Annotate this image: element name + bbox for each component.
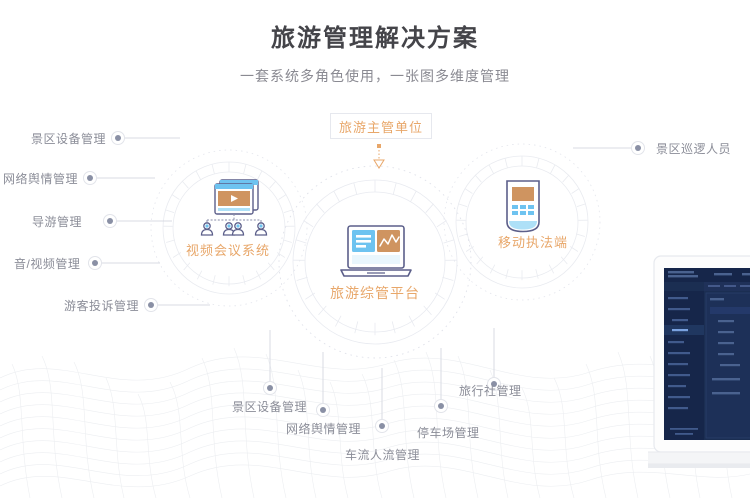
page-subtitle: 一套系统多角色使用，一张图多维度管理 [0,66,750,86]
node-label-mobile: 移动执法端 [472,232,594,251]
video-conference-icon [190,176,270,238]
bottom-label-3: 车流人流管理 [345,447,420,463]
header: 旅游管理解决方案 一套系统多角色使用，一张图多维度管理 [0,22,750,86]
left-label-1: 景区设备管理 [31,131,106,147]
laptop-platform-icon [337,224,415,282]
left-label-4: 音/视频管理 [14,256,80,272]
left-label-5: 游客投诉管理 [64,298,139,314]
left-label-2: 网络舆情管理 [3,171,78,187]
bottom-label-1: 景区设备管理 [232,399,307,415]
node-label-central: 旅游综管平台 [300,283,450,303]
bottom-label-4: 停车场管理 [417,425,480,441]
bottom-label-5: 旅行社管理 [459,383,522,399]
page-title: 旅游管理解决方案 [0,22,750,56]
left-label-3: 导游管理 [32,214,82,230]
wave-mesh-background [0,308,750,498]
authority-arrow-icon [374,144,384,168]
authority-box[interactable]: 旅游主管单位 [330,113,432,139]
right-label-1: 景区巡逻人员 [656,141,731,157]
mobile-device-icon [500,178,546,234]
dashboard-laptop-mockup [648,252,750,484]
right-connector-dots [632,142,645,155]
node-label-video: 视频会议系统 [167,240,289,259]
bottom-label-2: 网络舆情管理 [286,421,361,437]
infographic-canvas: 旅游管理解决方案 一套系统多角色使用，一张图多维度管理 旅游主管单位 [0,0,750,498]
authority-box-label: 旅游主管单位 [339,117,423,136]
left-connector-dots [84,132,158,312]
